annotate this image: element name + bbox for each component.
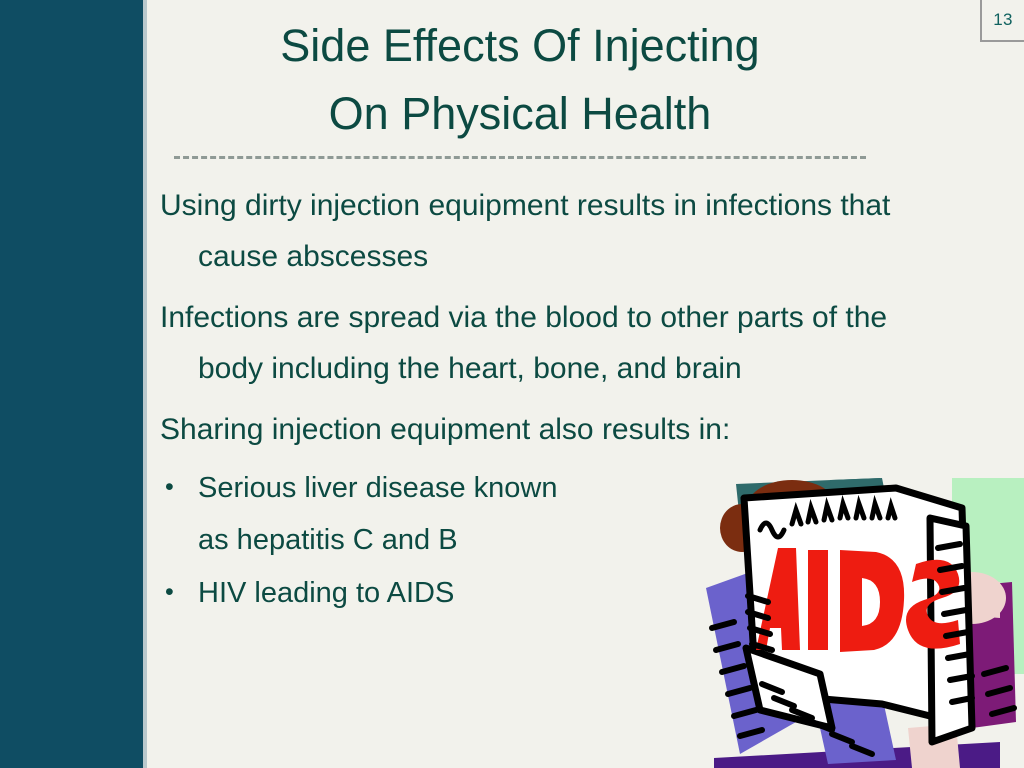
bullet-dot-icon: • (160, 568, 198, 617)
body-paragraph-1: Using dirty injection equipment results … (160, 180, 960, 282)
page-title: Side Effects Of Injecting On Physical He… (160, 12, 880, 147)
bullet-dot-icon: • (160, 463, 198, 512)
body-paragraph-3: Sharing injection equipment also results… (160, 404, 960, 455)
aids-newspaper-illustration (700, 478, 1024, 768)
sidebar-edge (143, 0, 147, 768)
body-paragraph-2: Infections are spread via the blood to o… (160, 292, 960, 394)
title-divider (174, 156, 866, 159)
sidebar (0, 0, 143, 768)
slide-number-badge: 13 (980, 0, 1024, 42)
slide-number-label: 13 (993, 10, 1013, 30)
headline-aids-text (756, 548, 960, 652)
page-title-line-1: Side Effects Of Injecting (160, 12, 880, 80)
page-title-line-2: On Physical Health (160, 80, 880, 148)
aids-newspaper-graphic (700, 478, 1024, 768)
slide-canvas: The RELAPSE Prevention Plan 13 Side Effe… (0, 0, 1024, 768)
